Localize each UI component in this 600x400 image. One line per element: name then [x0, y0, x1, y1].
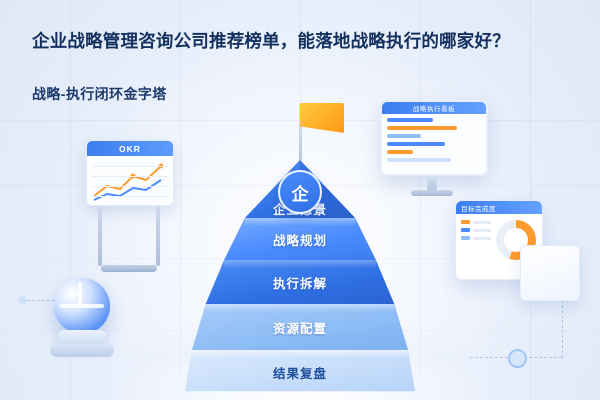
- blue-sphere-object: [46, 278, 118, 374]
- company-badge-icon: 企: [278, 170, 322, 214]
- pyramid-label-3: 执行拆解: [273, 273, 327, 292]
- network-node: [508, 349, 527, 368]
- legend-swatch-lightblue: [461, 236, 470, 240]
- okr-board: OKR: [86, 140, 172, 272]
- okr-line-chart: [87, 156, 173, 205]
- page-title: 企业战略管理咨询公司推荐榜单，能落地战略执行的哪家好？: [32, 28, 578, 53]
- legend-swatch-orange: [461, 220, 470, 224]
- gauge-header-label: 目标完成度: [456, 201, 542, 214]
- badge-label: 企: [292, 180, 309, 205]
- legend-item: [461, 220, 491, 224]
- pyramid-tier-3[interactable]: 执行拆解: [185, 260, 415, 304]
- legend-text: [473, 221, 491, 224]
- pyramid-tier-2[interactable]: 战略规划: [185, 218, 415, 260]
- pyramid-tier-5[interactable]: 结果复盘: [185, 350, 415, 398]
- monitor-stand-base: [411, 190, 453, 196]
- page-subtitle: 战略-执行闭环金字塔: [32, 84, 167, 104]
- monitor-stand: [427, 176, 437, 190]
- sphere-pedestal-base: [50, 344, 114, 357]
- sphere: [54, 278, 110, 334]
- okr-chart-svg: [87, 156, 173, 205]
- gauge-legend: [461, 220, 491, 260]
- pyramid-label-2: 战略规划: [273, 230, 327, 249]
- decor-panel: [520, 245, 580, 301]
- legend-swatch-blue: [461, 228, 470, 232]
- legend-item: [461, 228, 491, 232]
- legend-text: [473, 237, 491, 240]
- scene: 企业战略管理咨询公司推荐榜单，能落地战略执行的哪家好？ 战略-执行闭环金字塔 O…: [0, 0, 600, 400]
- network-node: [18, 296, 27, 305]
- pyramid-label-5: 结果复盘: [273, 363, 327, 382]
- legend-text: [473, 229, 491, 232]
- okr-board-stand: [86, 206, 172, 272]
- flag-icon: [300, 103, 344, 133]
- okr-card: OKR: [86, 140, 174, 206]
- strategy-pyramid: 企 企业愿景 战略规划 执行拆解 资源配置: [185, 105, 415, 365]
- pyramid-label-4: 资源配置: [273, 318, 327, 337]
- okr-header-label: OKR: [87, 141, 173, 156]
- pyramid-tier-4[interactable]: 资源配置: [185, 304, 415, 350]
- legend-item: [461, 236, 491, 240]
- pyramid-tier-1[interactable]: 企 企业愿景: [185, 160, 415, 218]
- dashed-connector-right: [562, 300, 563, 358]
